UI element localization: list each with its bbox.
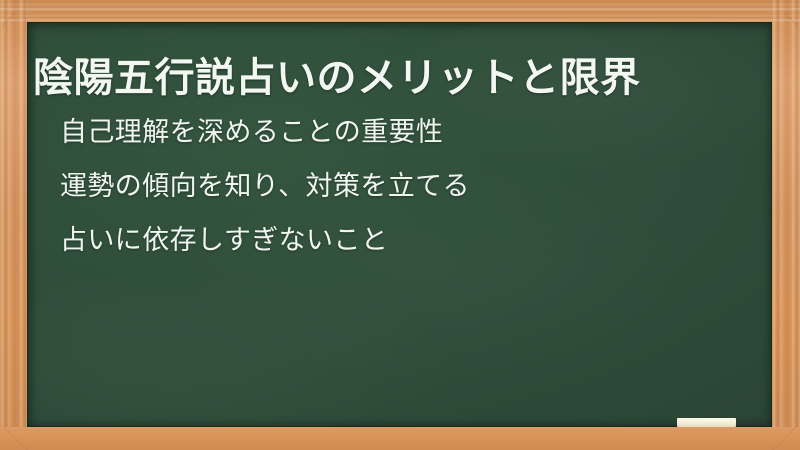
bullet-item-2: 運勢の傾向を知り、対策を立てる — [60, 159, 470, 213]
frame-right-rail-grain — [772, 0, 800, 450]
frame-left-rail-grain — [0, 0, 27, 450]
frame-corner-bottom-right — [770, 426, 800, 450]
bullet-item-1: 自己理解を深めることの重要性 — [60, 105, 470, 159]
chalk-stick — [677, 418, 736, 427]
slide-canvas: 陰陽五行説占いのメリットと限界 自己理解を深めることの重要性 運勢の傾向を知り、… — [0, 0, 800, 450]
slide-title: 陰陽五行説占いのメリットと限界 — [33, 55, 641, 101]
frame-top-rail-grain — [0, 0, 800, 22]
bullet-list: 自己理解を深めることの重要性 運勢の傾向を知り、対策を立てる 占いに依存しすぎな… — [60, 105, 470, 267]
chalkboard: 陰陽五行説占いのメリットと限界 自己理解を深めることの重要性 運勢の傾向を知り、… — [27, 22, 772, 427]
chalkboard-surface: 陰陽五行説占いのメリットと限界 自己理解を深めることの重要性 運勢の傾向を知り、… — [27, 22, 772, 427]
frame-bottom-ledge — [0, 427, 800, 450]
bullet-item-3: 占いに依存しすぎないこと — [60, 213, 470, 267]
frame-corner-bottom-left — [0, 426, 30, 450]
